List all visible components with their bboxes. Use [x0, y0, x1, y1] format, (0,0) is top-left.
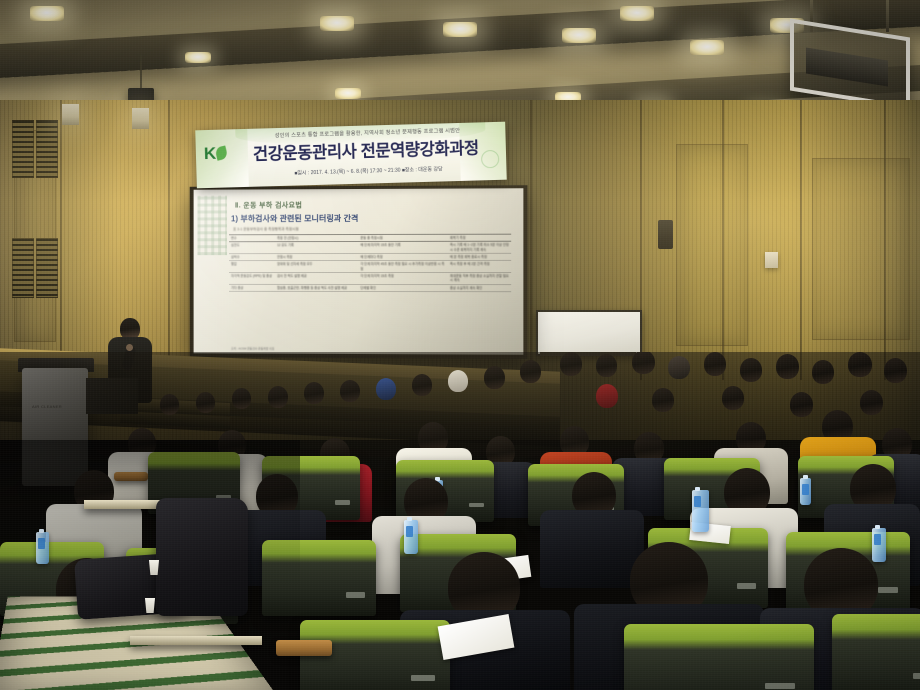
- step-nosing: [130, 636, 262, 645]
- slide-table-cell: 증상 소실까지 계속 확인: [448, 286, 511, 290]
- audience-member: [160, 394, 186, 420]
- water-bottle[interactable]: [404, 520, 418, 554]
- organization-logo: K: [204, 141, 239, 164]
- person-head: [848, 352, 872, 377]
- audience-member: [340, 380, 366, 406]
- slide-table-cell: 매 단계 마지막 15초 동안 기록: [358, 243, 448, 252]
- ceiling-light: [562, 28, 596, 43]
- audience-member: [668, 356, 694, 382]
- ceiling-mounted-projector: [790, 28, 910, 100]
- seat-number-tag: [411, 675, 435, 681]
- person-head: [160, 394, 179, 415]
- slide-table-cell: 매 단계마다 측정: [358, 255, 448, 259]
- auditorium-seat[interactable]: [832, 614, 920, 690]
- seat-number-tag: [765, 683, 795, 689]
- audience-member: [560, 352, 586, 378]
- person-head: [412, 374, 432, 396]
- leaf-icon: [215, 145, 229, 160]
- slide-table-header-cell: 측정 전 (안정시): [275, 236, 358, 240]
- audience-member: [196, 392, 222, 418]
- person-head: [776, 354, 799, 379]
- slide-table-cell: 안정시 측정: [275, 255, 358, 259]
- slide-table-cell: 자각적 운동강도 (RPE) 및 증상: [229, 274, 275, 283]
- projection-screen: Ⅱ. 운동 부하 검사요법 1) 부하검사와 관련된 모니터링과 간격 표 3-…: [190, 185, 528, 359]
- person-head: [484, 366, 505, 389]
- person-head: [652, 388, 674, 412]
- backpack-on-steps[interactable]: [156, 498, 248, 616]
- presenter-hand-microphone: [126, 344, 133, 351]
- ceiling-light: [443, 22, 477, 37]
- ceiling-light: [320, 16, 354, 31]
- person-head: [560, 352, 582, 376]
- slide-table-cell: 협심증, 호흡곤란, 파행증 등 증상 척도 사전 설명 제공: [275, 285, 358, 289]
- ceiling-light: [620, 6, 654, 21]
- audience-member: [848, 352, 874, 378]
- seat-number-tag: [913, 673, 920, 679]
- audience-member: [596, 354, 622, 380]
- person-head: [520, 360, 541, 383]
- audience-member: [632, 352, 658, 376]
- audience-member: [740, 358, 766, 384]
- slide-table-cell: 앙와위 및 선자세 측정 모두: [275, 262, 358, 271]
- banner-event-info: ■일시 : 2017. 4. 13.(목) ~ 6. 8.(목) 17:30 ~…: [244, 164, 492, 178]
- audience-member: [412, 374, 438, 400]
- slide-table-row: 기타 증상 협심증, 호흡곤란, 파행증 등 증상 척도 사전 설명 제공 단계…: [229, 284, 511, 292]
- audience-member: [448, 370, 474, 396]
- slide-table-cell: 검사 전 척도 설명 제공: [275, 274, 358, 283]
- water-bottle[interactable]: [692, 490, 709, 532]
- person-head: [884, 358, 907, 383]
- projection-screen-surface: Ⅱ. 운동 부하 검사요법 1) 부하검사와 관련된 모니터링과 간격 표 3-…: [194, 188, 524, 355]
- audience-member: [722, 386, 748, 412]
- slide-table: 변수 측정 전 (안정시) 운동 중 측정시점 회복기 측정 심전도 12 유도…: [229, 234, 511, 345]
- ceiling-light: [690, 40, 724, 55]
- person-head: [196, 392, 215, 413]
- person-head: [596, 384, 618, 408]
- audience-member: [776, 354, 802, 380]
- seat-number-tag: [335, 500, 351, 504]
- person-head: [376, 378, 396, 400]
- slide-table-cell: 최대운동 직후 측정 증상 소실까지 관찰 필요 시 계속: [448, 274, 511, 283]
- lecture-hall-photo: Ⅱ. 운동 부하 검사요법 1) 부하검사와 관련된 모니터링과 간격 표 3-…: [0, 0, 920, 690]
- slide-table-cell: 기타 증상: [229, 285, 275, 289]
- auditorium-seat[interactable]: [624, 624, 814, 690]
- logo-letter: K: [204, 144, 216, 161]
- slide-decorative-graphic: [198, 196, 228, 256]
- slide-table-cell: 심박수: [229, 255, 275, 259]
- audience-member: [704, 352, 730, 378]
- slide-table-cell: 각 단계 마지막 45초 동안 측정 필요 시 추가측정 이상반응 시 측정: [358, 262, 448, 271]
- person-head: [268, 386, 288, 408]
- slide-table-cell: 각 단계 마지막 15초 측정: [358, 274, 448, 283]
- slide-section-heading: Ⅱ. 운동 부하 검사요법: [235, 200, 302, 210]
- person-head: [448, 370, 468, 392]
- person-head: [304, 382, 324, 404]
- audience-member: [596, 384, 622, 410]
- event-banner: K 성인의 스포츠 통합 프로그램을 활용한, 지역사회 청소년 문제행동 프로…: [195, 122, 506, 189]
- ceiling-light: [185, 52, 211, 63]
- slide-table-header-cell: 변수: [229, 236, 275, 240]
- audience-member: [376, 378, 402, 404]
- seat-number-tag: [346, 592, 364, 597]
- slide-table-cell: 즉시 측정 후 매 2분 간격 측정: [448, 262, 511, 271]
- audience-member: [520, 360, 546, 386]
- audience-member: [652, 388, 678, 414]
- auditorium-seat[interactable]: [262, 540, 376, 616]
- person-head: [596, 354, 617, 377]
- seat-armrest: [276, 640, 332, 656]
- slide-table-cell: 심전도: [229, 243, 275, 252]
- slide-table-row: 혈압 앙와위 및 선자세 측정 모두 각 단계 마지막 45초 동안 측정 필요…: [229, 261, 511, 273]
- audience-member: [484, 366, 510, 392]
- slide-table-row: 자각적 운동강도 (RPE) 및 증상 검사 전 척도 설명 제공 각 단계 마…: [229, 273, 511, 285]
- audience-member: [812, 360, 838, 386]
- ceiling-light: [335, 88, 361, 99]
- audience-member: [304, 382, 330, 408]
- person-head: [232, 388, 251, 409]
- person-head: [668, 356, 690, 379]
- person-head: [704, 352, 726, 376]
- person-head: [812, 360, 834, 384]
- slide-table-cell: 매 분 측정 회복 종료시 측정: [448, 255, 511, 259]
- audience-member: [884, 358, 910, 384]
- slide-table-header-cell: 회복기 측정: [448, 236, 511, 240]
- slide-table-header-cell: 운동 중 측정시점: [358, 236, 448, 240]
- person-head: [722, 386, 744, 410]
- audience-member: [268, 386, 294, 412]
- audience-member: [232, 388, 258, 414]
- whiteboard: [536, 310, 642, 356]
- slide-main-heading: 1) 부하검사와 관련된 모니터링과 간격: [231, 213, 359, 224]
- slide-table-cell: 혈압: [229, 262, 275, 271]
- slide-table-cell: 12 유도 기록: [275, 243, 358, 252]
- ceiling-light: [30, 6, 64, 21]
- slide-table-cell: 즉시 기록 매 1~2분 기록 최소 5분 이상 안정시 수준 회복까지 기록 …: [448, 243, 511, 252]
- slide-table-caption: 표 3-1 운동부하검사 중 측정항목과 측정시점: [233, 227, 299, 232]
- slide-table-row: 심전도 12 유도 기록 매 단계 마지막 15초 동안 기록 즉시 기록 매 …: [229, 242, 511, 254]
- slide-table-cell: 단계별 확인: [358, 286, 448, 290]
- person-head: [740, 358, 762, 382]
- slide-footnote: 출처 : ACSM 운동검사·운동처방 지침: [231, 346, 274, 350]
- person-head: [340, 380, 360, 402]
- water-bottle[interactable]: [800, 478, 811, 505]
- projector-mount-rod: [886, 0, 889, 32]
- person-head: [632, 352, 655, 374]
